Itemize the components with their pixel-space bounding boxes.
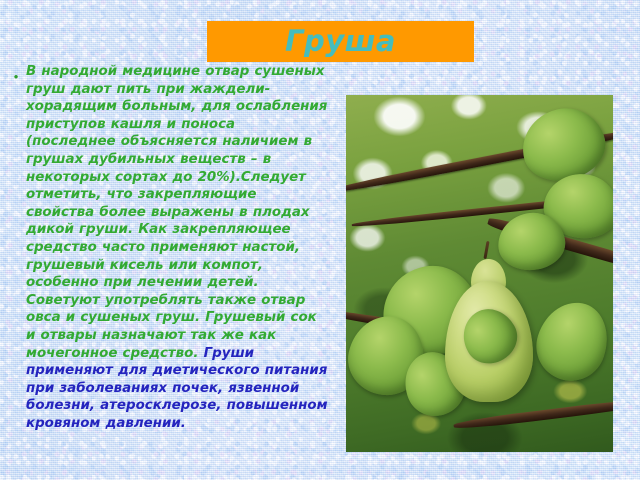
bullet-list-item: В народной медицине отвар сушеных груш д… — [6, 63, 328, 432]
pear-stem — [483, 241, 489, 259]
presentation-slide: Груша В народной медицине отвар сушеных … — [0, 0, 640, 480]
pear-photo — [346, 95, 613, 452]
pear-photo-canopy — [346, 95, 613, 452]
leaf-top-right — [515, 100, 613, 189]
body-text-block: В народной медицине отвар сушеных груш д… — [6, 63, 328, 432]
leaf-right-lower — [528, 293, 613, 389]
body-text-green-segment: В народной медицине отвар сушеных груш д… — [26, 64, 327, 361]
body-paragraph: В народной медицине отвар сушеных груш д… — [26, 63, 328, 432]
slide-title: Груша — [207, 20, 474, 62]
tree-branch-bottom — [453, 397, 613, 431]
bullet-point-icon — [6, 63, 26, 83]
